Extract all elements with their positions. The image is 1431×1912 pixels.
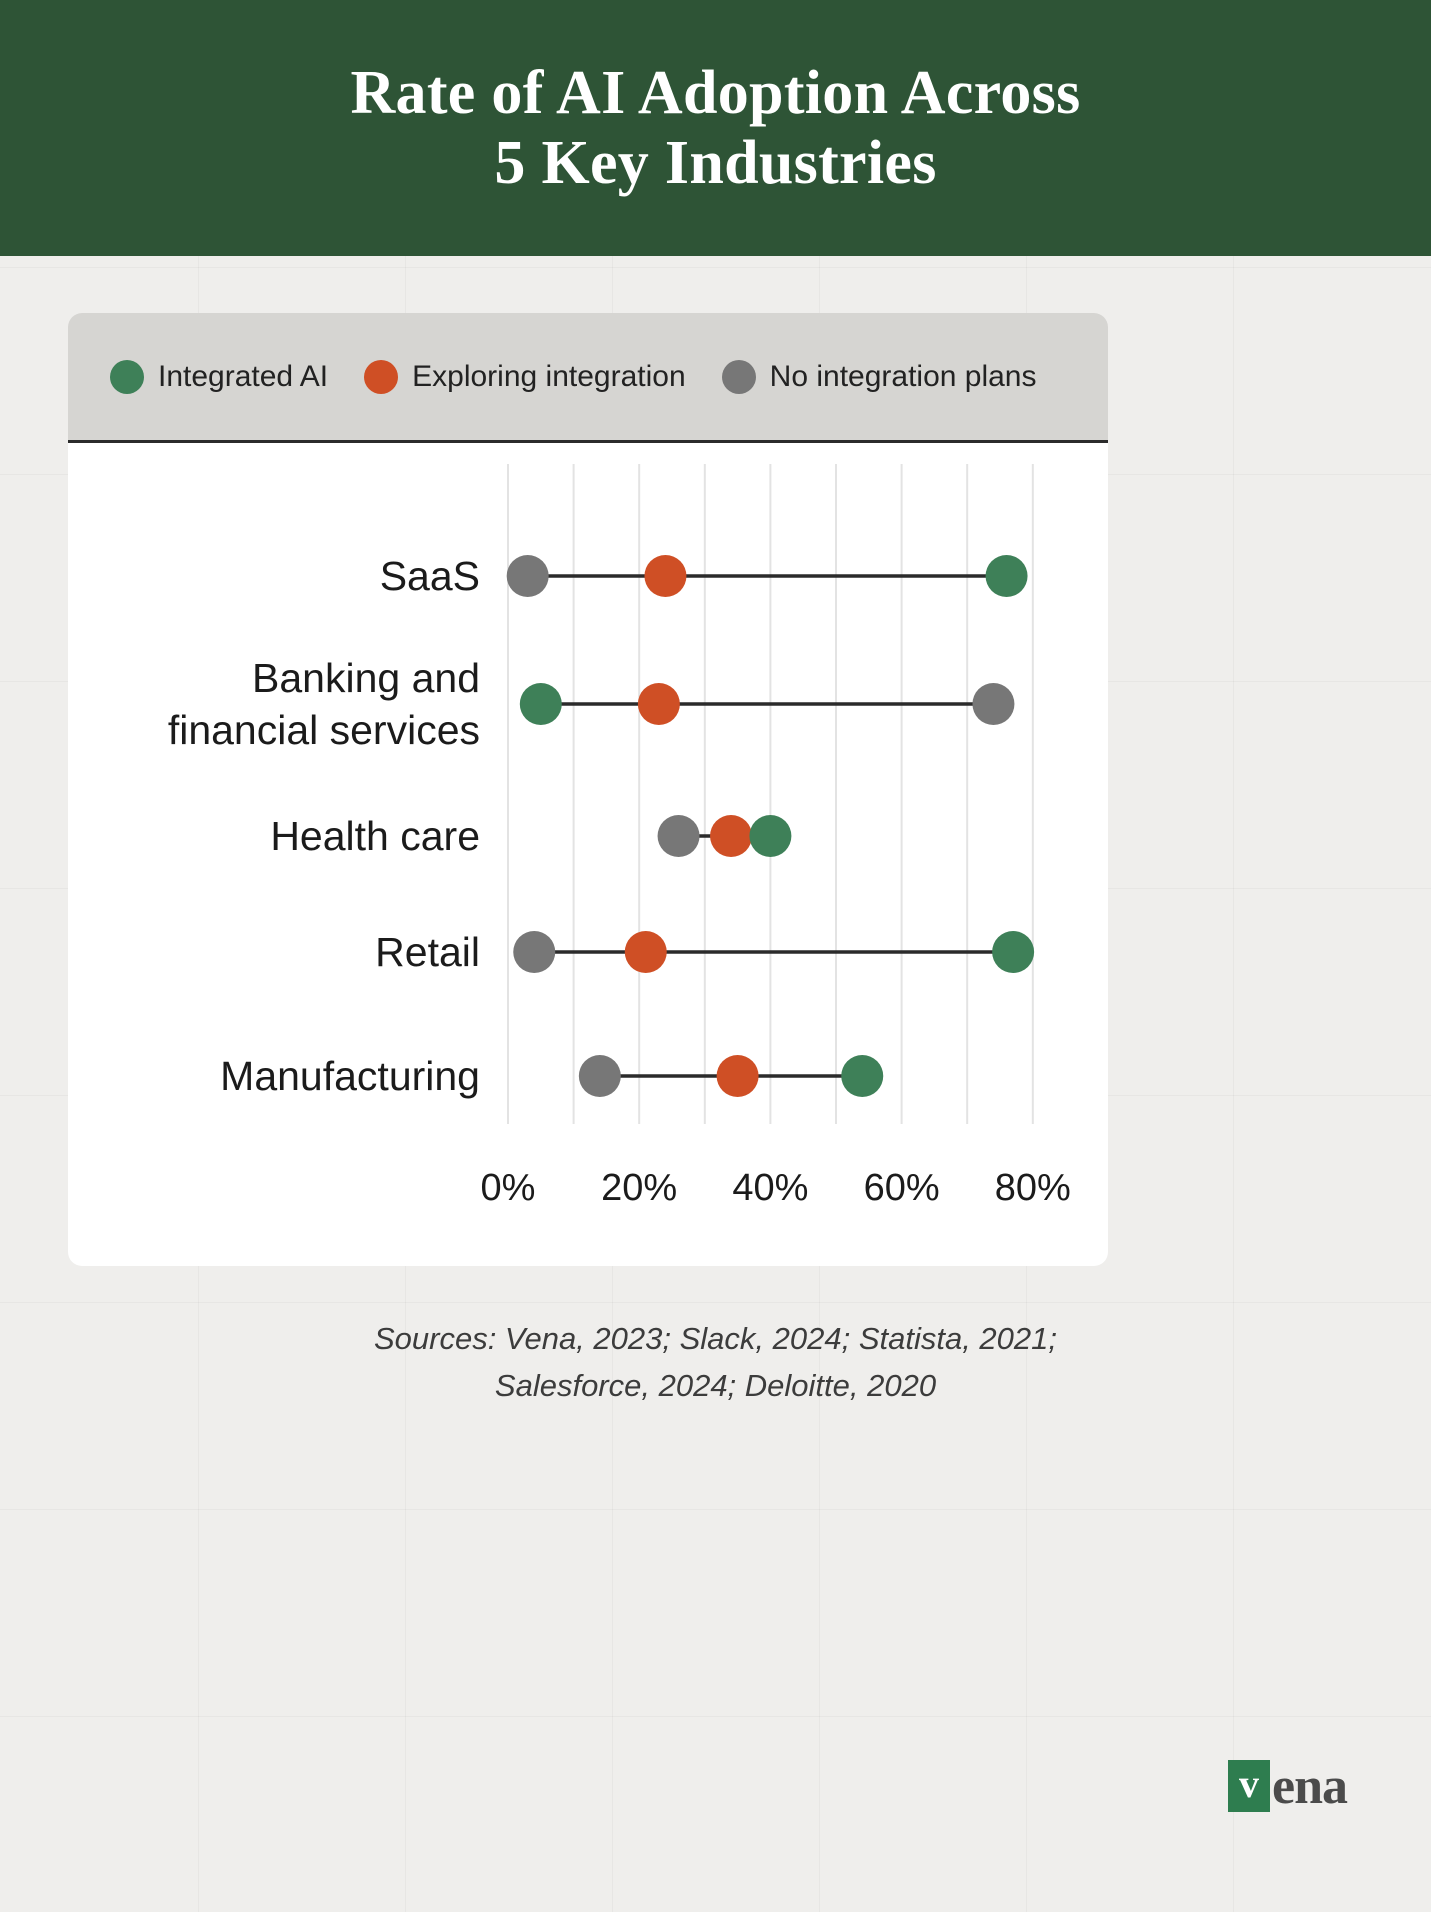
legend-label-exploring-integration: Exploring integration <box>412 360 686 394</box>
category-label: Health care <box>270 813 480 859</box>
chart-card: Integrated AI Exploring integration No i… <box>68 313 1108 1266</box>
logo-wordmark: ena <box>1272 1757 1347 1816</box>
category-label: Banking andfinancial services <box>168 655 480 753</box>
gridlines <box>508 464 1033 1124</box>
data-point-none[interactable] <box>658 815 700 857</box>
x-tick-label: 40% <box>732 1167 808 1209</box>
dumbbell-plot: SaaSBanking andfinancial servicesHealth … <box>68 446 1108 1266</box>
legend-item-exploring-integration[interactable]: Exploring integration <box>364 360 686 394</box>
page-title: Rate of AI Adoption Across 5 Key Industr… <box>350 58 1080 198</box>
legend-label-no-integration-plans: No integration plans <box>770 360 1037 394</box>
data-point-none[interactable] <box>972 683 1014 725</box>
data-point-exploring[interactable] <box>710 815 752 857</box>
legend-item-no-integration-plans[interactable]: No integration plans <box>722 360 1037 394</box>
x-axis-ticks: 0%20%40%60%80% <box>481 1167 1071 1209</box>
data-point-exploring[interactable] <box>638 683 680 725</box>
data-point-none[interactable] <box>513 931 555 973</box>
data-point-exploring[interactable] <box>625 931 667 973</box>
data-point-integrated[interactable] <box>749 815 791 857</box>
plot-svg: SaaSBanking andfinancial servicesHealth … <box>68 446 1108 1266</box>
data-point-integrated[interactable] <box>520 683 562 725</box>
category-label: Retail <box>375 929 480 975</box>
x-tick-label: 0% <box>481 1167 536 1209</box>
data-point-exploring[interactable] <box>644 555 686 597</box>
x-tick-label: 60% <box>864 1167 940 1209</box>
header-banner: Rate of AI Adoption Across 5 Key Industr… <box>0 0 1431 256</box>
category-label: SaaS <box>380 553 480 599</box>
data-point-none[interactable] <box>507 555 549 597</box>
chart-legend: Integrated AI Exploring integration No i… <box>68 313 1108 443</box>
logo-mark-icon: v <box>1228 1760 1270 1812</box>
vena-logo: v ena <box>1228 1756 1347 1816</box>
legend-dot-integrated-ai <box>110 360 144 394</box>
x-tick-label: 20% <box>601 1167 677 1209</box>
sources-note: Sources: Vena, 2023; Slack, 2024; Statis… <box>0 1316 1431 1409</box>
legend-dot-exploring-integration <box>364 360 398 394</box>
data-point-none[interactable] <box>579 1055 621 1097</box>
data-point-integrated[interactable] <box>986 555 1028 597</box>
data-point-exploring[interactable] <box>717 1055 759 1097</box>
data-point-integrated[interactable] <box>992 931 1034 973</box>
logo-mark-letter: v <box>1239 1760 1259 1808</box>
plot-rows: SaaSBanking andfinancial servicesHealth … <box>168 553 1034 1099</box>
legend-dot-no-integration-plans <box>722 360 756 394</box>
legend-label-integrated-ai: Integrated AI <box>158 360 328 394</box>
legend-item-integrated-ai[interactable]: Integrated AI <box>110 360 328 394</box>
category-label: Manufacturing <box>220 1053 480 1099</box>
x-tick-label: 80% <box>995 1167 1071 1209</box>
data-point-integrated[interactable] <box>841 1055 883 1097</box>
